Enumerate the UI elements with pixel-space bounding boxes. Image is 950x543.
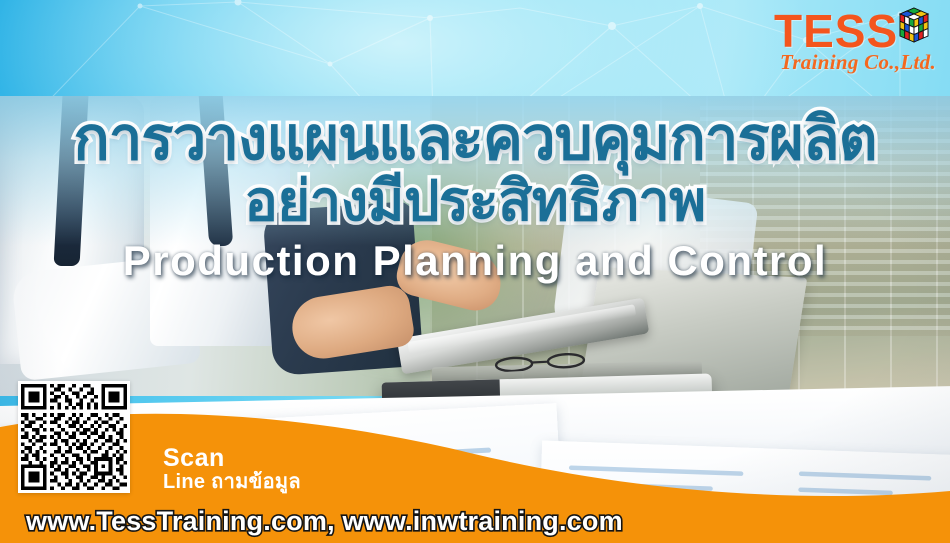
headline-block: การวางแผนและควบคุมการผลิต อย่างมีประสิทธ… (0, 108, 950, 285)
scan-line-badge: Scan Line ถามข้อมูล (163, 446, 301, 492)
scan-line-thai-label: Line ถามข้อมูล (163, 472, 301, 492)
tess-logo[interactable]: TESS (770, 2, 942, 88)
line-qr-code[interactable] (18, 381, 130, 493)
subtitle-english: Production Planning and Control (0, 237, 950, 285)
title-thai-line-2: อย่างมีประสิทธิภาพ (0, 172, 950, 230)
promo-banner: TESS (0, 0, 950, 543)
scan-label: Scan (163, 446, 301, 471)
footer-websites[interactable]: www.TessTraining.com, www.inwtraining.co… (26, 506, 623, 537)
logo-tagline: Training Co.,Ltd. (776, 50, 940, 75)
title-thai-line-1: การวางแผนและควบคุมการผลิต (0, 108, 950, 170)
rubiks-cube-icon (892, 6, 936, 50)
